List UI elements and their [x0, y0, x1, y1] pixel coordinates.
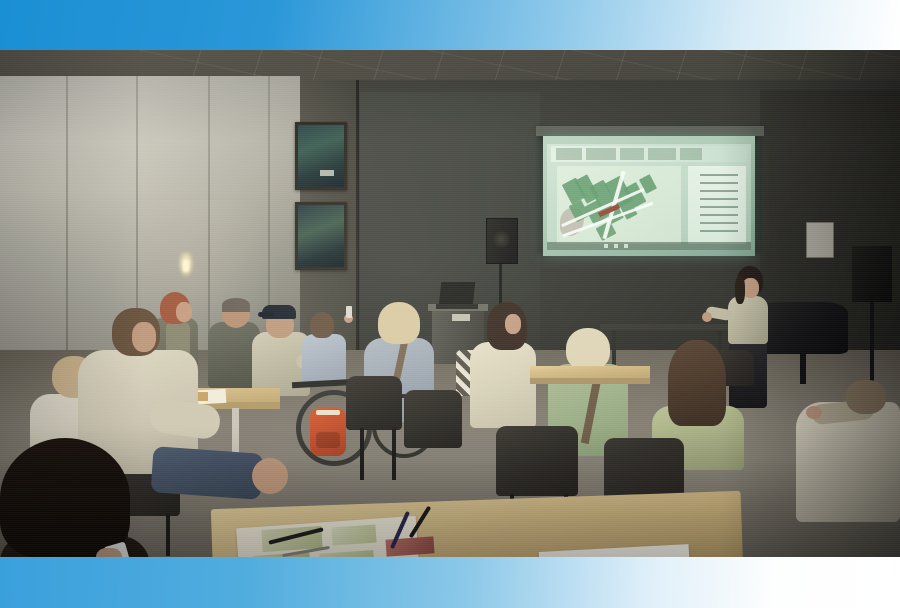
- bottom-blue-band: [0, 557, 900, 608]
- presenter-hair-side: [735, 276, 745, 304]
- presenter-hand: [702, 312, 712, 322]
- screenshot-root: [0, 0, 900, 608]
- legend-entry: [700, 214, 738, 216]
- chair-leg: [360, 428, 364, 480]
- cap-brim: [258, 312, 274, 317]
- audience-member-face: [132, 322, 156, 352]
- chair-leg: [166, 514, 170, 556]
- audience-member-blue-shirt: [302, 334, 346, 384]
- backpack-strap: [316, 410, 340, 415]
- framed-picture-upper: [295, 122, 347, 190]
- slide-thumbnail: [586, 148, 616, 160]
- legend-entry: [700, 230, 738, 232]
- plan-map-panel: [331, 524, 376, 545]
- audience-member-hand: [806, 406, 822, 419]
- taskbar-icon: [624, 244, 628, 248]
- piano-leg: [800, 350, 806, 384]
- audience-member-hand: [96, 548, 122, 557]
- audience-member-shorts: [151, 446, 264, 500]
- chair: [404, 390, 462, 448]
- framed-picture-lower: [295, 202, 347, 270]
- chair-leg: [392, 428, 396, 480]
- laptop-screen: [439, 282, 476, 306]
- audience-member-knee: [252, 458, 288, 494]
- chair: [496, 426, 578, 496]
- audience-member-face: [176, 302, 192, 322]
- taskbar-icon: [604, 244, 608, 248]
- mobile-phone: [346, 306, 352, 318]
- slide-thumbnail: [620, 148, 644, 160]
- loudspeaker-cone: [492, 230, 510, 248]
- loudspeaker-right: [852, 246, 892, 302]
- audience-member-hair: [0, 438, 130, 557]
- presenter-torso: [728, 296, 768, 344]
- audience-member-cream-jacket: [470, 342, 536, 428]
- slide-thumbnail: [556, 148, 582, 160]
- wall-notice: [806, 222, 834, 258]
- backpack-pocket: [316, 432, 340, 448]
- top-blue-band: [0, 0, 900, 50]
- screen-top-rail: [536, 126, 764, 136]
- audience-member-hair: [668, 340, 726, 426]
- legend-entry: [700, 174, 738, 176]
- loudspeaker-stand-right: [870, 302, 874, 382]
- side-table: [600, 324, 730, 330]
- slide-thumbnail: [680, 148, 702, 160]
- podium-badge: [452, 314, 470, 321]
- wall-sconce: [183, 260, 189, 272]
- picture-caption-plate: [320, 170, 334, 176]
- right-table: [530, 366, 650, 378]
- legend-entry: [700, 206, 738, 208]
- taskbar-icon: [614, 244, 618, 248]
- audience-member-hair: [222, 298, 250, 312]
- audience-member-head: [846, 380, 886, 414]
- audience-member-head: [566, 328, 610, 370]
- meeting-room-photograph: [0, 50, 900, 557]
- audience-member-hair: [310, 312, 334, 338]
- audience-member-hair: [378, 302, 420, 344]
- audience-member-face: [505, 314, 521, 334]
- legend-entry: [700, 190, 738, 192]
- legend-entry: [700, 198, 738, 200]
- laptop-keyboard: [436, 304, 478, 309]
- right-table-edge: [530, 378, 650, 384]
- legend-entry: [700, 182, 738, 184]
- slide-taskbar: [547, 242, 751, 250]
- slide-thumbnail: [648, 148, 676, 160]
- map-legend: [688, 166, 746, 244]
- chair: [346, 376, 402, 430]
- legend-entry: [700, 222, 738, 224]
